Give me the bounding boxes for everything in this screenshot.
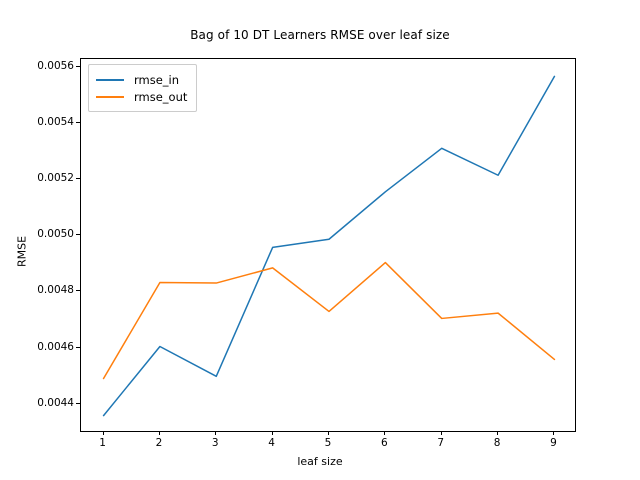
y-tick-label: 0.0044 — [14, 397, 74, 409]
series-line-rmse_out — [104, 263, 555, 379]
x-tick-label: 7 — [421, 437, 461, 449]
chart-figure: Bag of 10 DT Learners RMSE over leaf siz… — [0, 0, 640, 480]
y-tick-label: 0.0046 — [14, 341, 74, 353]
legend-line-swatch — [96, 96, 124, 98]
x-tick-label: 1 — [83, 437, 123, 449]
plot-lines — [81, 59, 577, 433]
plot-area — [80, 58, 576, 432]
x-tick-label: 6 — [364, 437, 404, 449]
y-tick-label: 0.0054 — [14, 116, 74, 128]
y-tick-label: 0.0048 — [14, 284, 74, 296]
x-tick-label: 8 — [477, 437, 517, 449]
legend-item[interactable]: rmse_out — [96, 88, 187, 105]
chart-legend: rmse_inrmse_out — [88, 64, 197, 112]
x-tick-label: 9 — [533, 437, 573, 449]
x-tick-label: 2 — [139, 437, 179, 449]
legend-label: rmse_out — [134, 90, 187, 104]
y-tick-label: 0.0056 — [14, 60, 74, 72]
x-tick-label: 5 — [308, 437, 348, 449]
y-tick-label: 0.0050 — [14, 228, 74, 240]
x-tick-label: 4 — [252, 437, 292, 449]
legend-line-swatch — [96, 79, 124, 81]
y-tick-label: 0.0052 — [14, 172, 74, 184]
chart-title: Bag of 10 DT Learners RMSE over leaf siz… — [0, 28, 640, 42]
series-line-rmse_in — [104, 76, 555, 415]
legend-label: rmse_in — [134, 73, 179, 87]
x-axis-label: leaf size — [0, 455, 640, 468]
x-tick-label: 3 — [195, 437, 235, 449]
legend-item[interactable]: rmse_in — [96, 71, 187, 88]
